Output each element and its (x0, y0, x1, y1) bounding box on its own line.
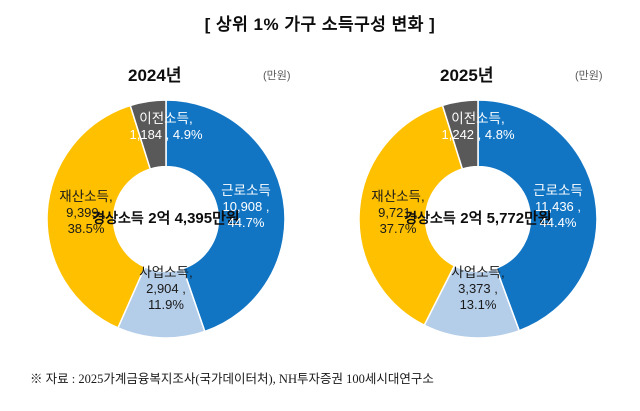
donut-svg-2025 (356, 97, 600, 341)
donut-chart-2025: 경상소득 2억 5,772만원 이전소득, 1,242 , 4.8% 근로소득 … (356, 97, 600, 341)
source-note: ※ 자료 : 2025가계금융복지조사(국가데이터처), NH투자증권 100세… (30, 368, 434, 387)
donut-slices-2024 (47, 100, 285, 338)
donut-slices-2025 (359, 100, 597, 338)
chart-panel-2024: 2024년 (만원) 경상소득 2억 4,395만원 이전소득, 1,184 ,… (18, 55, 318, 355)
unit-label-2024: (만원) (263, 67, 291, 83)
unit-label-2025: (만원) (575, 67, 603, 83)
donut-chart-2024: 경상소득 2억 4,395만원 이전소득, 1,184 , 4.9% 근로소득 … (44, 97, 288, 341)
page-title: [ 상위 1% 가구 소득구성 변화 ] (0, 10, 640, 35)
chart-panel-2025: 2025년 (만원) 경상소득 2억 5,772만원 이전소득, 1,242 ,… (330, 55, 630, 355)
donut-svg-2024 (44, 97, 288, 341)
year-label-2025: 2025년 (440, 61, 493, 86)
year-label-2024: 2024년 (128, 61, 181, 86)
